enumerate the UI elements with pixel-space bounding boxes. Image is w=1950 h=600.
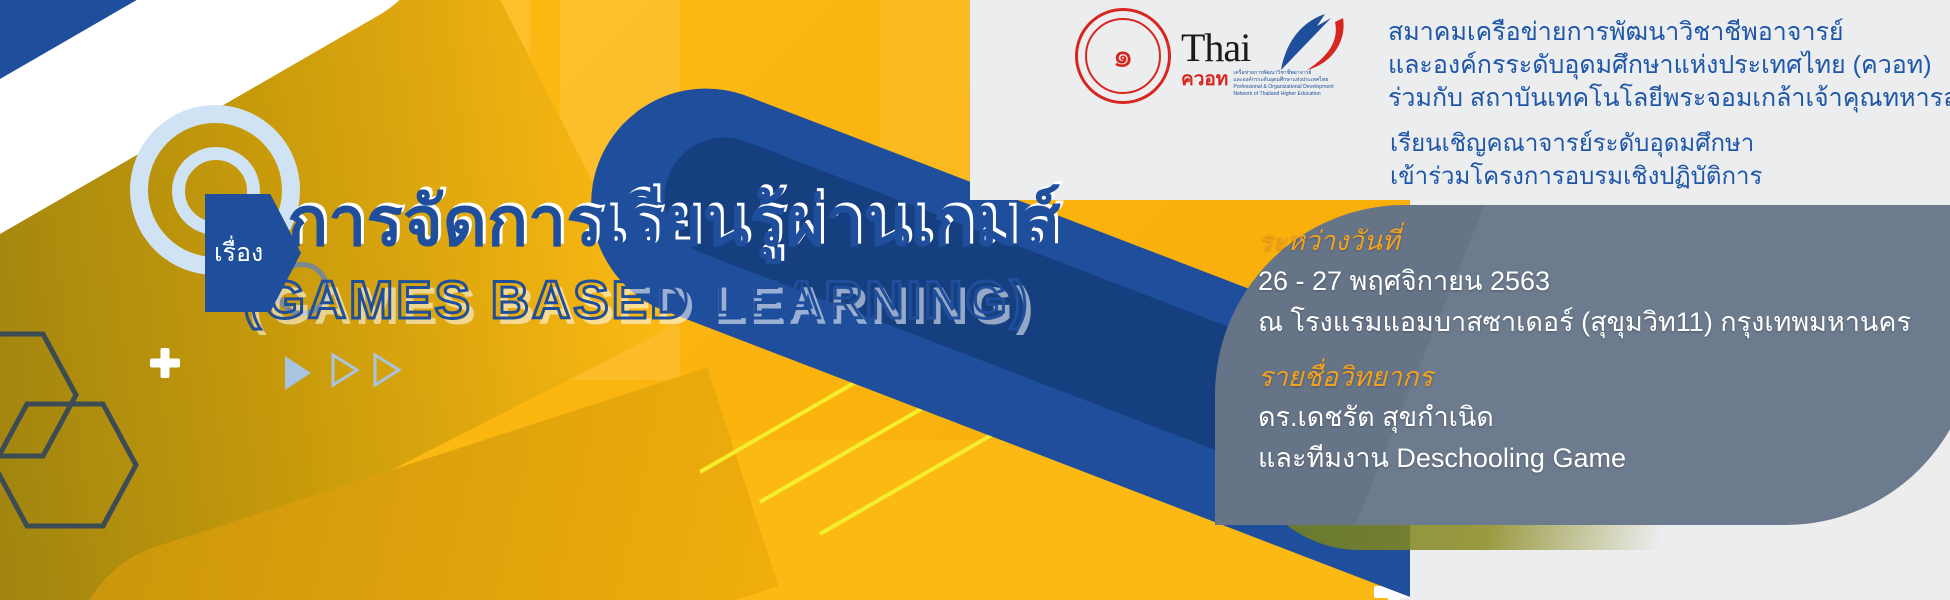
thai-royal-seal-icon: ๑ (1075, 8, 1171, 104)
seal-emblem-glyph: ๑ (1094, 27, 1152, 85)
event-banner: ๑ Thai ควอท เครือข่ายการพัฒนาวิชาชีพอาจา… (0, 0, 1950, 600)
invitation-line-2: เข้าร่วมโครงการอบรมเชิงปฏิบัติการ (1390, 161, 1762, 194)
speaker-group: รายชื่อวิทยากร ดร.เดชรัต สุขกำเนิด และที… (1258, 358, 1950, 478)
invitation-text: เรียนเชิญคณาจารย์ระดับอุดมศึกษา เข้าร่วม… (1390, 128, 1762, 193)
page-title-thai: การจัดการเรียนรู้ผ่านเกมส์ (287, 188, 1061, 256)
thaipod-swoosh-icon (1273, 12, 1353, 74)
thaipod-fineprint: เครือข่ายการพัฒนาวิชาชีพอาจารย์ และองค์ก… (1233, 70, 1333, 98)
topic-tag-label: เรื่อง (214, 241, 263, 266)
play-triangle-outline-1 (330, 352, 356, 384)
organization-line-1: สมาคมเครือข่ายการพัฒนาวิชาชีพอาจารย์ (1388, 16, 1950, 49)
speaker-label: รายชื่อวิทยากร (1258, 358, 1950, 397)
invitation-line-1: เรียนเชิญคณาจารย์ระดับอุดมศึกษา (1390, 128, 1762, 161)
organization-line-2: และองค์กรระดับอุดมศึกษาแห่งประเทศไทย (คว… (1388, 49, 1950, 82)
speaker-team: และทีมงาน Deschooling Game (1258, 438, 1950, 479)
thaipod-abbrev-thai: ควอท (1181, 70, 1228, 89)
event-details: ระหว่างวันที่ 26 - 27 พฤศจิกายน 2563 ณ โ… (1258, 222, 1950, 478)
speaker-name: ดร.เดชรัต สุขกำเนิด (1258, 397, 1950, 438)
thaipod-subtitle-row: ควอท เครือข่ายการพัฒนาวิชาชีพอาจารย์ และ… (1181, 70, 1359, 98)
play-triangle-outline-2 (372, 352, 398, 384)
organization-text: สมาคมเครือข่ายการพัฒนาวิชาชีพอาจารย์ และ… (1388, 16, 1950, 115)
date-value: 26 - 27 พฤศจิกายน 2563 (1258, 261, 1950, 302)
date-label: ระหว่างวันที่ (1258, 222, 1950, 261)
thaipod-logo: Thai ควอท เครือข่ายการพัฒนาวิชาชีพอาจารย… (1181, 8, 1359, 108)
hexagon-outline-2 (0, 330, 50, 434)
thaipod-subtitle-th-2: และองค์กรระดับอุดมศึกษาแห่งประเทศไทย (1233, 77, 1333, 84)
thaipod-subtitle-en-1: Professional & Organizational Developmen… (1233, 84, 1333, 91)
play-triangle-solid (285, 356, 311, 390)
venue-value: ณ โรงแรมแอมบาสซาเดอร์ (สุขุมวิท11) กรุงเ… (1258, 302, 1950, 343)
organization-line-3: ร่วมกับ สถาบันเทคโนโลยีพระจอมเกล้าเจ้าคุ… (1388, 82, 1950, 115)
thaipod-subtitle-en-2: Network of Thailand Higher Education (1233, 91, 1333, 98)
page-title-english: (GAMES BASED LEARNING) (243, 274, 1030, 327)
logo-group: ๑ Thai ควอท เครือข่ายการพัฒนาวิชาชีพอาจา… (1075, 8, 1359, 108)
plus-mark-1 (150, 348, 180, 378)
